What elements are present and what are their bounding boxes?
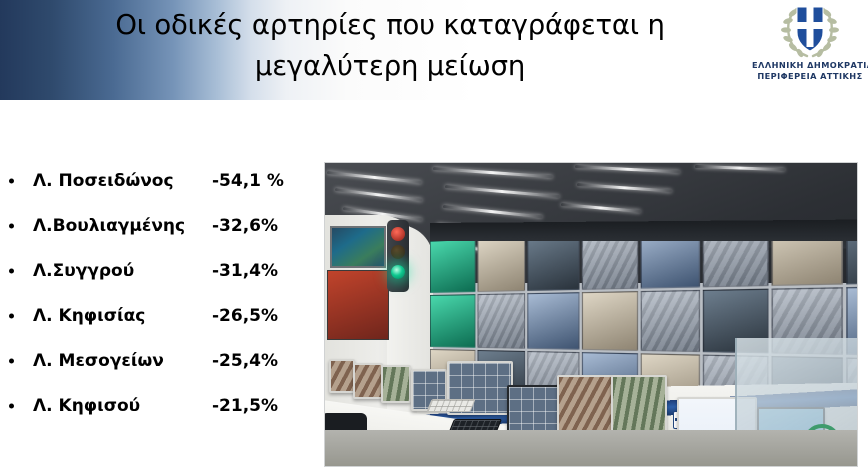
hellenic-republic-emblem-icon xyxy=(780,2,840,60)
list-item: Λ.Βουλιαγμένης -32,6% xyxy=(0,203,320,248)
bullet-dot-icon xyxy=(9,403,14,408)
list-item-label: Λ. Ποσειδώνος xyxy=(33,171,174,191)
list-item-label: Λ.Βουλιαγμένης xyxy=(33,216,185,236)
list-item-value: -54,1 % xyxy=(212,171,284,191)
photo-wall-poster xyxy=(327,270,389,340)
logo-text-line-1: ΕΛΛΗΝΙΚΗ ΔΗΜΟΚΡΑΤΙΑ xyxy=(752,60,868,71)
page-title-line-1: Οι οδικές αρτηρίες που καταγράφεται η xyxy=(60,5,720,46)
list-item-value: -31,4% xyxy=(212,261,278,281)
photo-floor xyxy=(325,430,857,466)
slide-header-band: Οι οδικές αρτηρίες που καταγράφεται η με… xyxy=(0,0,868,100)
bullet-dot-icon xyxy=(9,358,14,363)
photo-desk-monitor xyxy=(329,359,355,393)
list-item: Λ. Κηφισίας -26,5% xyxy=(0,293,320,338)
bullet-dot-icon xyxy=(9,178,14,183)
list-item-value: -32,6% xyxy=(212,216,278,236)
bullet-dot-icon xyxy=(9,223,14,228)
list-item: Λ. Κηφισού -21,5% xyxy=(0,383,320,428)
list-item-value: -21,5% xyxy=(212,396,278,416)
photo-desk-monitor xyxy=(353,363,383,399)
logo-text-line-2: ΠΕΡΙΦΕΡΕΙΑ ΑΤΤΙΚΗΣ xyxy=(752,71,868,82)
organization-logo-text: ΕΛΛΗΝΙΚΗ ΔΗΜΟΚΡΑΤΙΑ ΠΕΡΙΦΕΡΕΙΑ ΑΤΤΙΚΗΣ xyxy=(752,60,868,82)
page-title-line-2: μεγαλύτερη μείωση xyxy=(60,46,720,87)
list-item-label: Λ. Μεσογείων xyxy=(33,351,164,371)
photo-wall-monitor xyxy=(330,226,386,268)
list-item: Λ.Συγγρού -31,4% xyxy=(0,248,320,293)
organization-logo: ΕΛΛΗΝΙΚΗ ΔΗΜΟΚΡΑΤΙΑ ΠΕΡΙΦΕΡΕΙΑ ΑΤΤΙΚΗΣ xyxy=(752,2,868,94)
control-room-photo xyxy=(325,163,857,466)
list-item-value: -25,4% xyxy=(212,351,278,371)
bullet-dot-icon xyxy=(9,268,14,273)
list-item-label: Λ.Συγγρού xyxy=(33,261,134,281)
photo-desk-monitor xyxy=(507,385,561,433)
page-title: Οι οδικές αρτηρίες που καταγράφεται η με… xyxy=(60,5,720,87)
traffic-light-icon xyxy=(387,220,409,292)
list-item-value: -26,5% xyxy=(212,306,278,326)
photo-desk-monitor xyxy=(381,365,411,403)
list-item: Λ. Μεσογείων -25,4% xyxy=(0,338,320,383)
list-item: Λ. Ποσειδώνος -54,1 % xyxy=(0,158,320,203)
road-arteries-list: Λ. Ποσειδώνος -54,1 % Λ.Βουλιαγμένης -32… xyxy=(0,158,320,428)
list-item-label: Λ. Κηφισού xyxy=(33,396,140,416)
list-item-label: Λ. Κηφισίας xyxy=(33,306,145,326)
bullet-dot-icon xyxy=(9,313,14,318)
photo-keyboard xyxy=(426,399,475,412)
